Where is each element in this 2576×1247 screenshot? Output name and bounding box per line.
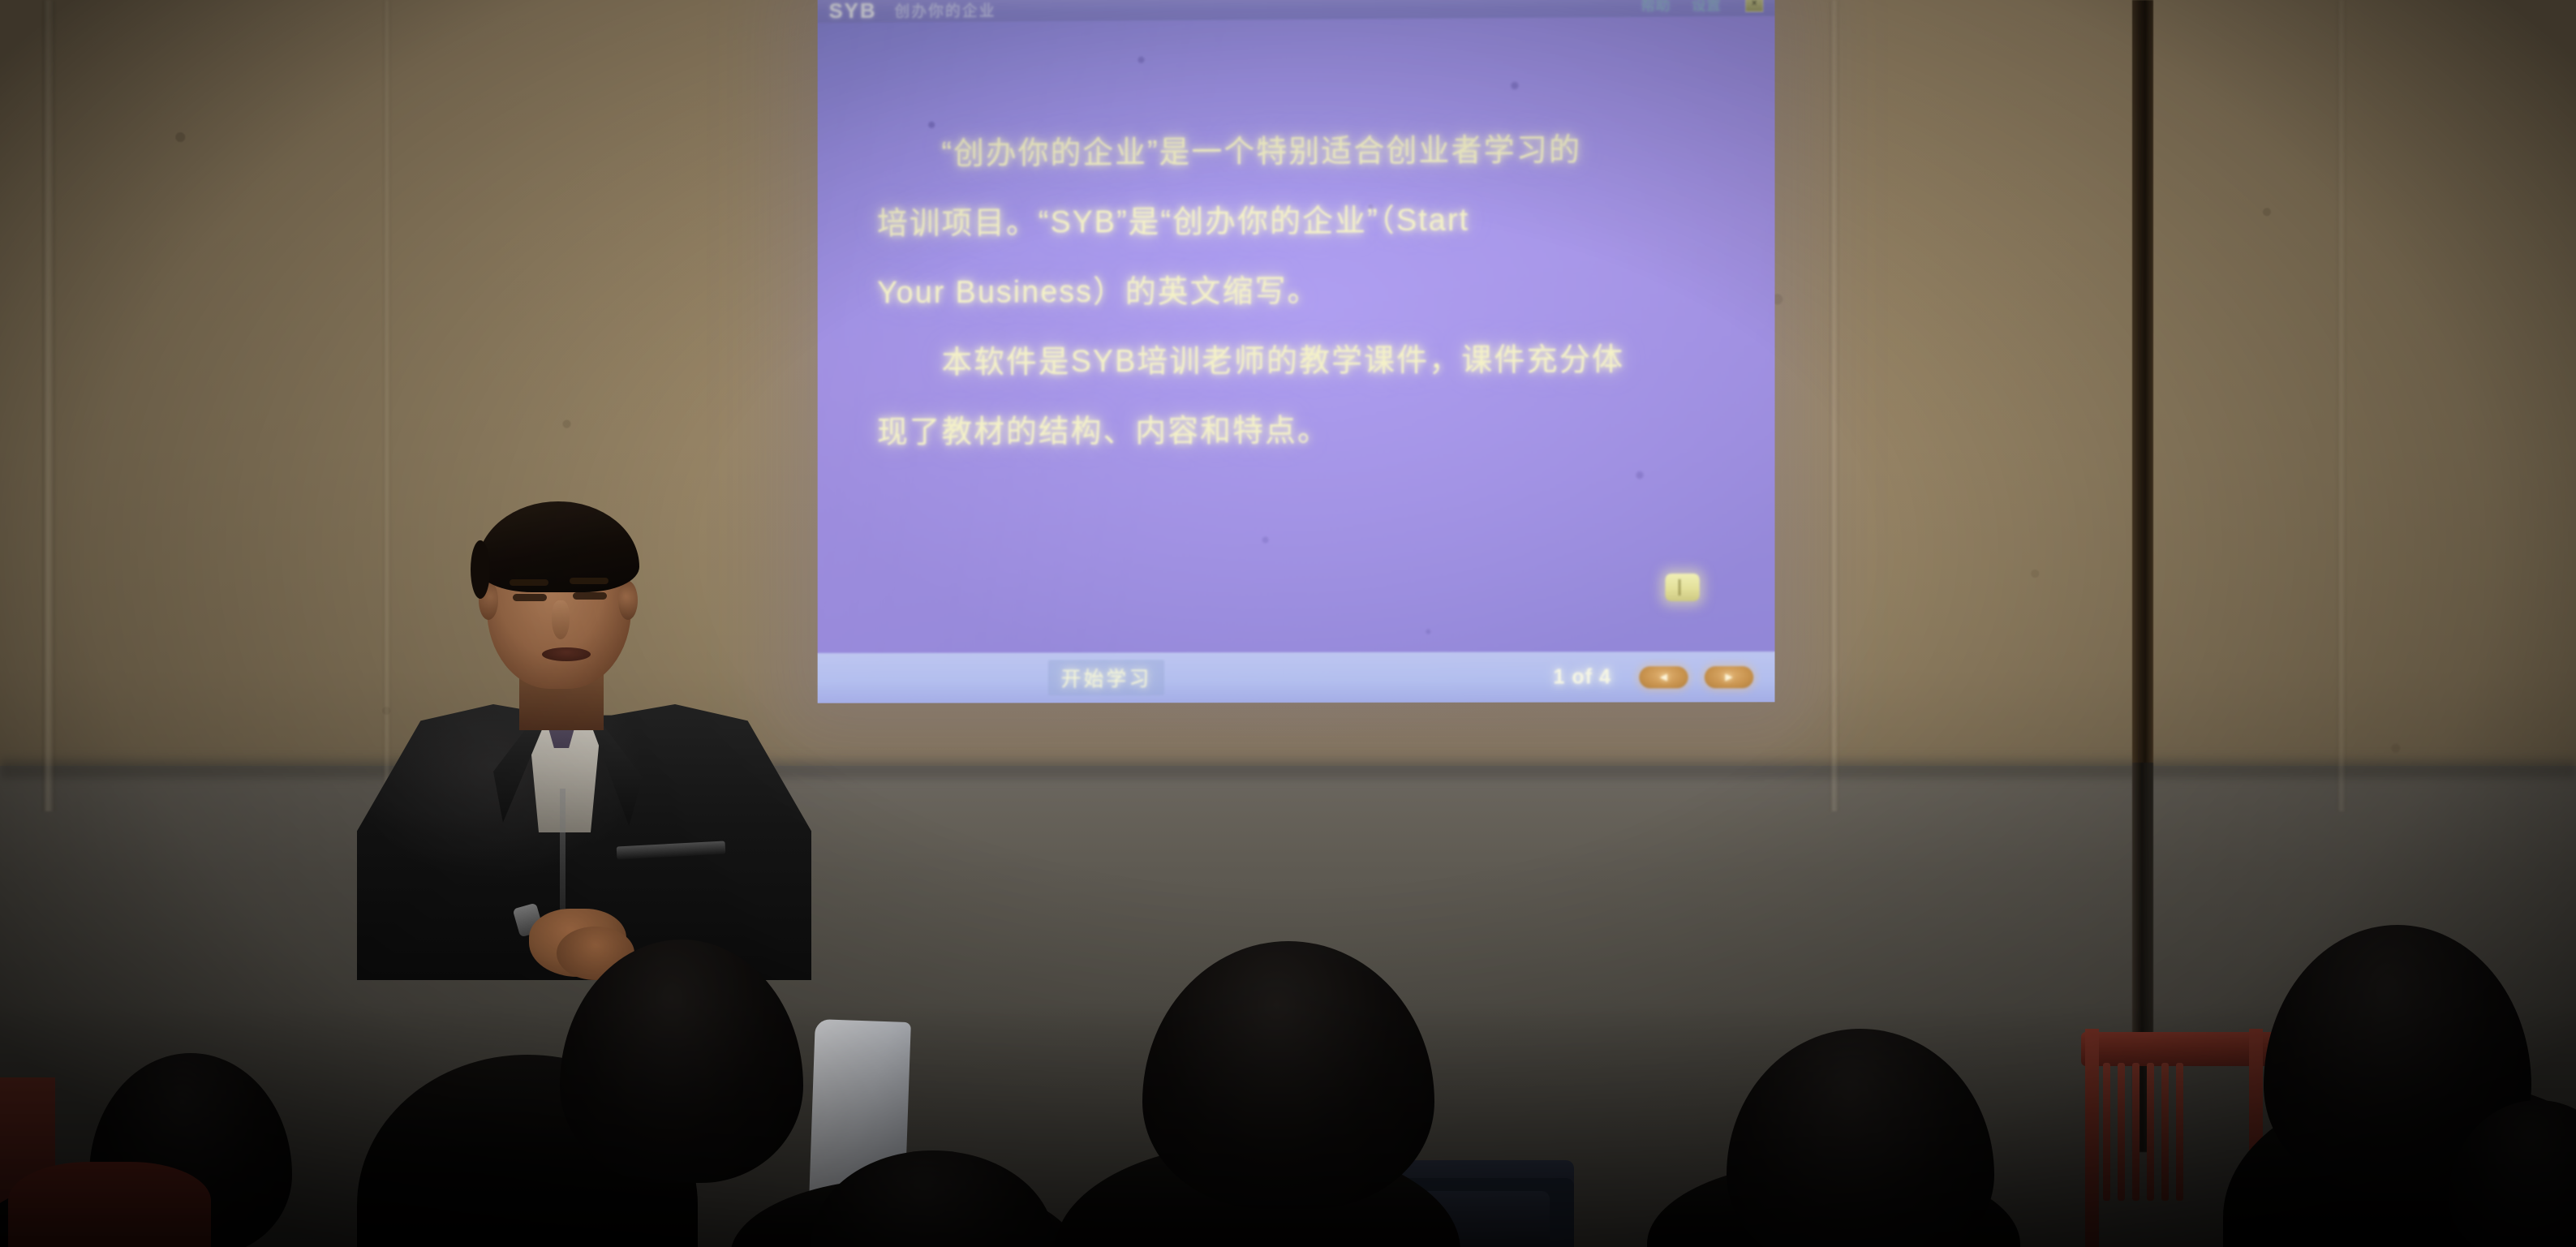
slide-line: 培训项目。“SYB”是“创办你的企业”（Start	[877, 184, 1701, 259]
app-logo: SYB	[829, 0, 877, 24]
slide-line: 现了教材的结构、内容和特点。	[877, 394, 1701, 467]
chair-red-right-top-rail[interactable]	[2081, 1032, 2276, 1066]
classroom-photo-scene: SYB 创办你的企业 帮助 设置 × “创办你的企业”是一个特别适合创业者学习的…	[0, 0, 2576, 1247]
note-toggle-icon[interactable]	[1665, 574, 1699, 601]
presenter-mouth	[542, 647, 591, 661]
app-titlebar: SYB 创办你的企业 帮助 设置 ×	[818, 0, 1775, 23]
slide-surface: SYB 创办你的企业 帮助 设置 × “创办你的企业”是一个特别适合创业者学习的…	[818, 0, 1775, 703]
presenter-nose	[552, 600, 570, 639]
chair-red-right-post	[2085, 1029, 2099, 1247]
chair-slat	[2118, 1063, 2125, 1201]
slide-line: 本软件是SYB培训老师的教学课件，课件充分体	[877, 325, 1701, 398]
presenter-brow-left	[510, 579, 548, 586]
start-learning-button[interactable]: 开始学习	[1048, 660, 1164, 695]
next-page-button[interactable]: ►	[1705, 666, 1753, 688]
slide-line: “创办你的企业”是一个特别适合创业者学习的	[877, 114, 1701, 189]
wall-seam	[42, 0, 55, 811]
chair-slat	[2147, 1063, 2154, 1201]
audience-red-garment	[8, 1162, 211, 1247]
slide-footer-toolbar: 开始学习 1 of 4 ◄ ►	[818, 651, 1775, 703]
presenter-hair	[477, 501, 639, 592]
menu-item-settings[interactable]: 设置	[1692, 0, 1721, 15]
wall-seam	[1830, 0, 1839, 811]
chair-slat	[2161, 1063, 2169, 1201]
projection-screen: SYB 创办你的企业 帮助 设置 × “创办你的企业”是一个特别适合创业者学习的…	[818, 0, 1775, 703]
close-icon[interactable]: ×	[1745, 0, 1763, 11]
chair-slat	[2103, 1063, 2110, 1201]
titlebar-spacer	[996, 5, 1620, 10]
prev-page-button[interactable]: ◄	[1639, 666, 1688, 688]
presenter-ear-right	[618, 581, 638, 620]
presenter-figure	[357, 503, 811, 957]
app-subtitle: 创办你的企业	[894, 0, 996, 21]
chair-slat	[2176, 1063, 2183, 1201]
wall-pipe	[2132, 0, 2153, 844]
presenter-eye-left	[513, 594, 547, 601]
presenter-brow-right	[570, 578, 609, 584]
page-indicator: 1 of 4	[1553, 665, 1611, 689]
presenter-eye-right	[573, 592, 607, 600]
wall-seam	[2337, 0, 2346, 811]
slide-text-body: “创办你的企业”是一个特别适合创业者学习的 培训项目。“SYB”是“创办你的企业…	[877, 114, 1701, 467]
chair-slat	[2132, 1063, 2139, 1201]
slide-line: Your Business）的英文缩写。	[877, 254, 1701, 328]
menu-item-help[interactable]: 帮助	[1641, 0, 1670, 15]
